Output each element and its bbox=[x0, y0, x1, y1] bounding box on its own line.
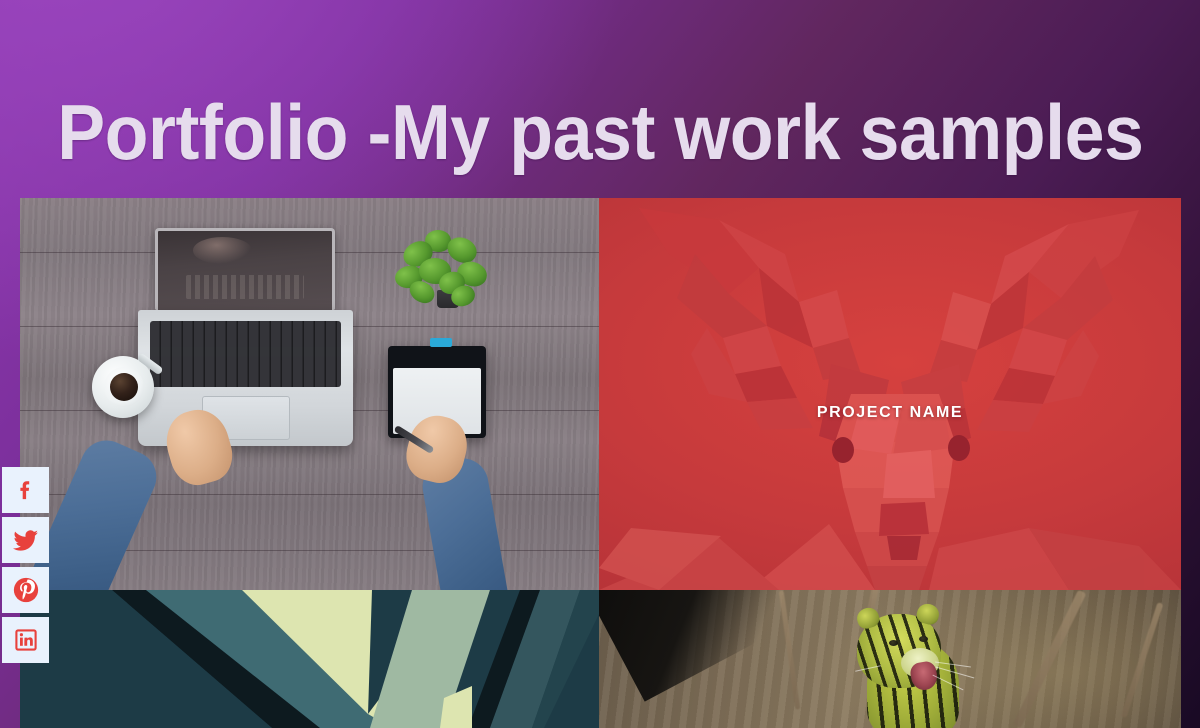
project-name-caption: PROJECT NAME bbox=[599, 404, 1181, 422]
linkedin-icon bbox=[14, 628, 38, 652]
social-links-rail bbox=[2, 467, 49, 663]
laptop-keyboard bbox=[150, 321, 341, 387]
page-title-container: Portfolio -My past work samples bbox=[0, 82, 1200, 182]
tablet-clip bbox=[430, 338, 452, 347]
portfolio-slide: Portfolio -My past work samples bbox=[0, 0, 1200, 728]
tiger-eye-right bbox=[919, 636, 928, 642]
page-title: Portfolio -My past work samples bbox=[57, 93, 1143, 171]
gallery-item-tiger-cub-photo[interactable] bbox=[599, 590, 1181, 728]
social-link-twitter[interactable] bbox=[2, 517, 49, 563]
coffee-cup bbox=[104, 367, 144, 407]
tiger-eye-left bbox=[889, 640, 898, 646]
pinterest-icon bbox=[12, 576, 40, 604]
social-link-linkedin[interactable] bbox=[2, 617, 49, 663]
facebook-icon bbox=[14, 478, 38, 502]
gallery-item-desk-workspace-photo[interactable] bbox=[20, 198, 599, 590]
social-link-facebook[interactable] bbox=[2, 467, 49, 513]
gallery-item-low-poly-deer-artwork[interactable]: PROJECT NAME bbox=[599, 198, 1181, 590]
potted-plant bbox=[395, 228, 493, 320]
laptop-screen bbox=[155, 228, 335, 310]
social-link-pinterest[interactable] bbox=[2, 567, 49, 613]
twitter-icon bbox=[13, 527, 39, 553]
deer-polygon-illustration bbox=[599, 198, 1181, 590]
geometric-bands-illustration bbox=[20, 590, 599, 728]
gallery-item-geometric-bands-artwork[interactable] bbox=[20, 590, 599, 728]
coffee-saucer bbox=[92, 356, 154, 418]
coffee-liquid bbox=[110, 373, 138, 401]
portfolio-gallery: PROJECT NAME bbox=[20, 198, 1181, 728]
